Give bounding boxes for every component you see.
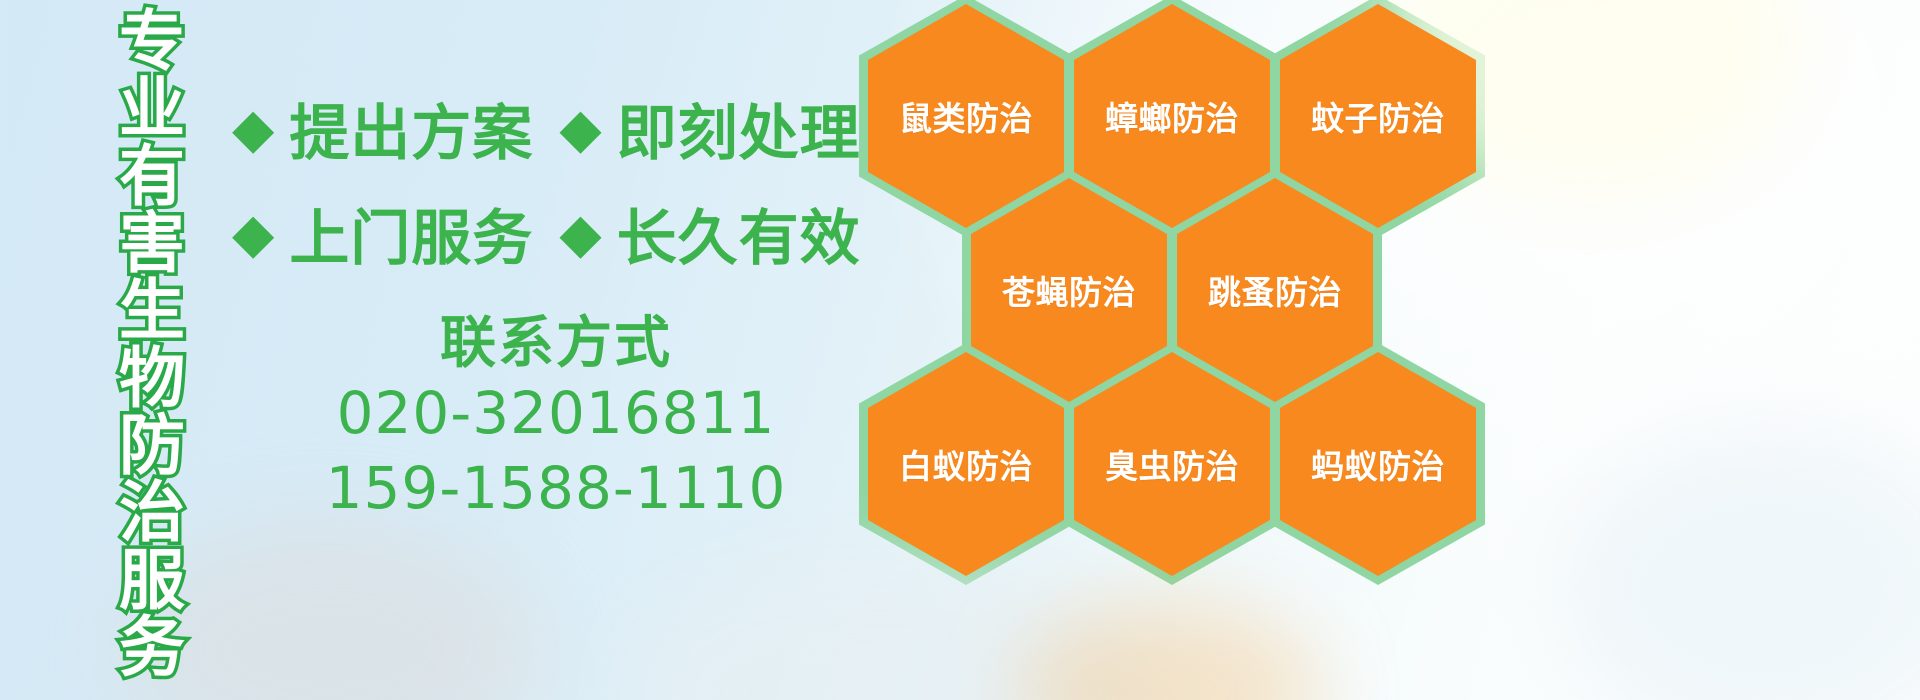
vertical-headline-char-8: 治 bbox=[119, 479, 185, 546]
feature-label-onsite-service: 上门服务 bbox=[289, 190, 533, 277]
service-label-ant: 蚂蚁防治 bbox=[1311, 440, 1445, 488]
vertical-headline-char-6: 物 bbox=[119, 345, 185, 412]
vertical-headline-char-2: 业 bbox=[119, 75, 185, 142]
feature-list: ◆ 提出方案 ◆ 即刻处理 ◆ 上门服务 ◆ 长久有效 bbox=[232, 76, 872, 286]
service-label-termite: 白蚁防治 bbox=[899, 440, 1033, 488]
feature-row-1: ◆ 提出方案 ◆ 即刻处理 bbox=[232, 76, 872, 181]
vertical-headline-char-3: 有 bbox=[119, 143, 185, 210]
feature-label-propose-plan: 提出方案 bbox=[289, 85, 533, 172]
vertical-headline-char-9: 服 bbox=[119, 547, 185, 614]
banner-canvas: 专 业 有 害 生 物 防 治 服 务 ◆ 提出方案 ◆ 即刻处理 ◆ 上门服务… bbox=[0, 0, 1920, 700]
service-hex-ant[interactable]: 蚂蚁防治 bbox=[1280, 352, 1476, 576]
service-label-rodent: 鼠类防治 bbox=[899, 92, 1033, 140]
contact-block: 联系方式 020-32016811 159-1588-1110 bbox=[296, 312, 816, 525]
contact-phone-mobile[interactable]: 159-1588-1110 bbox=[296, 451, 816, 525]
vertical-headline: 专 业 有 害 生 物 防 治 服 务 bbox=[104, 8, 200, 681]
service-hex-bedbug[interactable]: 臭虫防治 bbox=[1074, 352, 1270, 576]
service-label-mosquito: 蚊子防治 bbox=[1311, 92, 1445, 140]
diamond-bullet-icon: ◆ bbox=[232, 206, 275, 261]
vertical-headline-char-10: 务 bbox=[119, 614, 185, 681]
vertical-headline-char-1: 专 bbox=[119, 8, 185, 75]
feature-label-immediate-handling: 即刻处理 bbox=[617, 85, 861, 172]
service-label-fly: 苍蝇防治 bbox=[1002, 266, 1136, 314]
diamond-bullet-icon: ◆ bbox=[232, 101, 275, 156]
vertical-headline-char-7: 防 bbox=[119, 412, 185, 479]
contact-title: 联系方式 bbox=[296, 312, 816, 376]
service-label-bedbug: 臭虫防治 bbox=[1105, 440, 1239, 488]
vertical-headline-char-4: 害 bbox=[119, 210, 185, 277]
service-label-flea: 跳蚤防治 bbox=[1208, 266, 1342, 314]
diamond-bullet-icon: ◆ bbox=[559, 101, 602, 156]
service-hex-termite[interactable]: 白蚁防治 bbox=[868, 352, 1064, 576]
vertical-headline-char-5: 生 bbox=[119, 277, 185, 344]
background-blotch-right bbox=[1560, 430, 1920, 700]
feature-label-long-lasting: 长久有效 bbox=[617, 190, 861, 277]
diamond-bullet-icon: ◆ bbox=[559, 206, 602, 261]
contact-phone-landline[interactable]: 020-32016811 bbox=[296, 376, 816, 450]
feature-row-2: ◆ 上门服务 ◆ 长久有效 bbox=[232, 181, 872, 286]
service-honeycomb: 鼠类防治 蟑螂防治 蚊子防治 苍蝇防治 跳蚤防治 白蚁防治 bbox=[860, 0, 1480, 700]
service-label-cockroach: 蟑螂防治 bbox=[1105, 92, 1239, 140]
